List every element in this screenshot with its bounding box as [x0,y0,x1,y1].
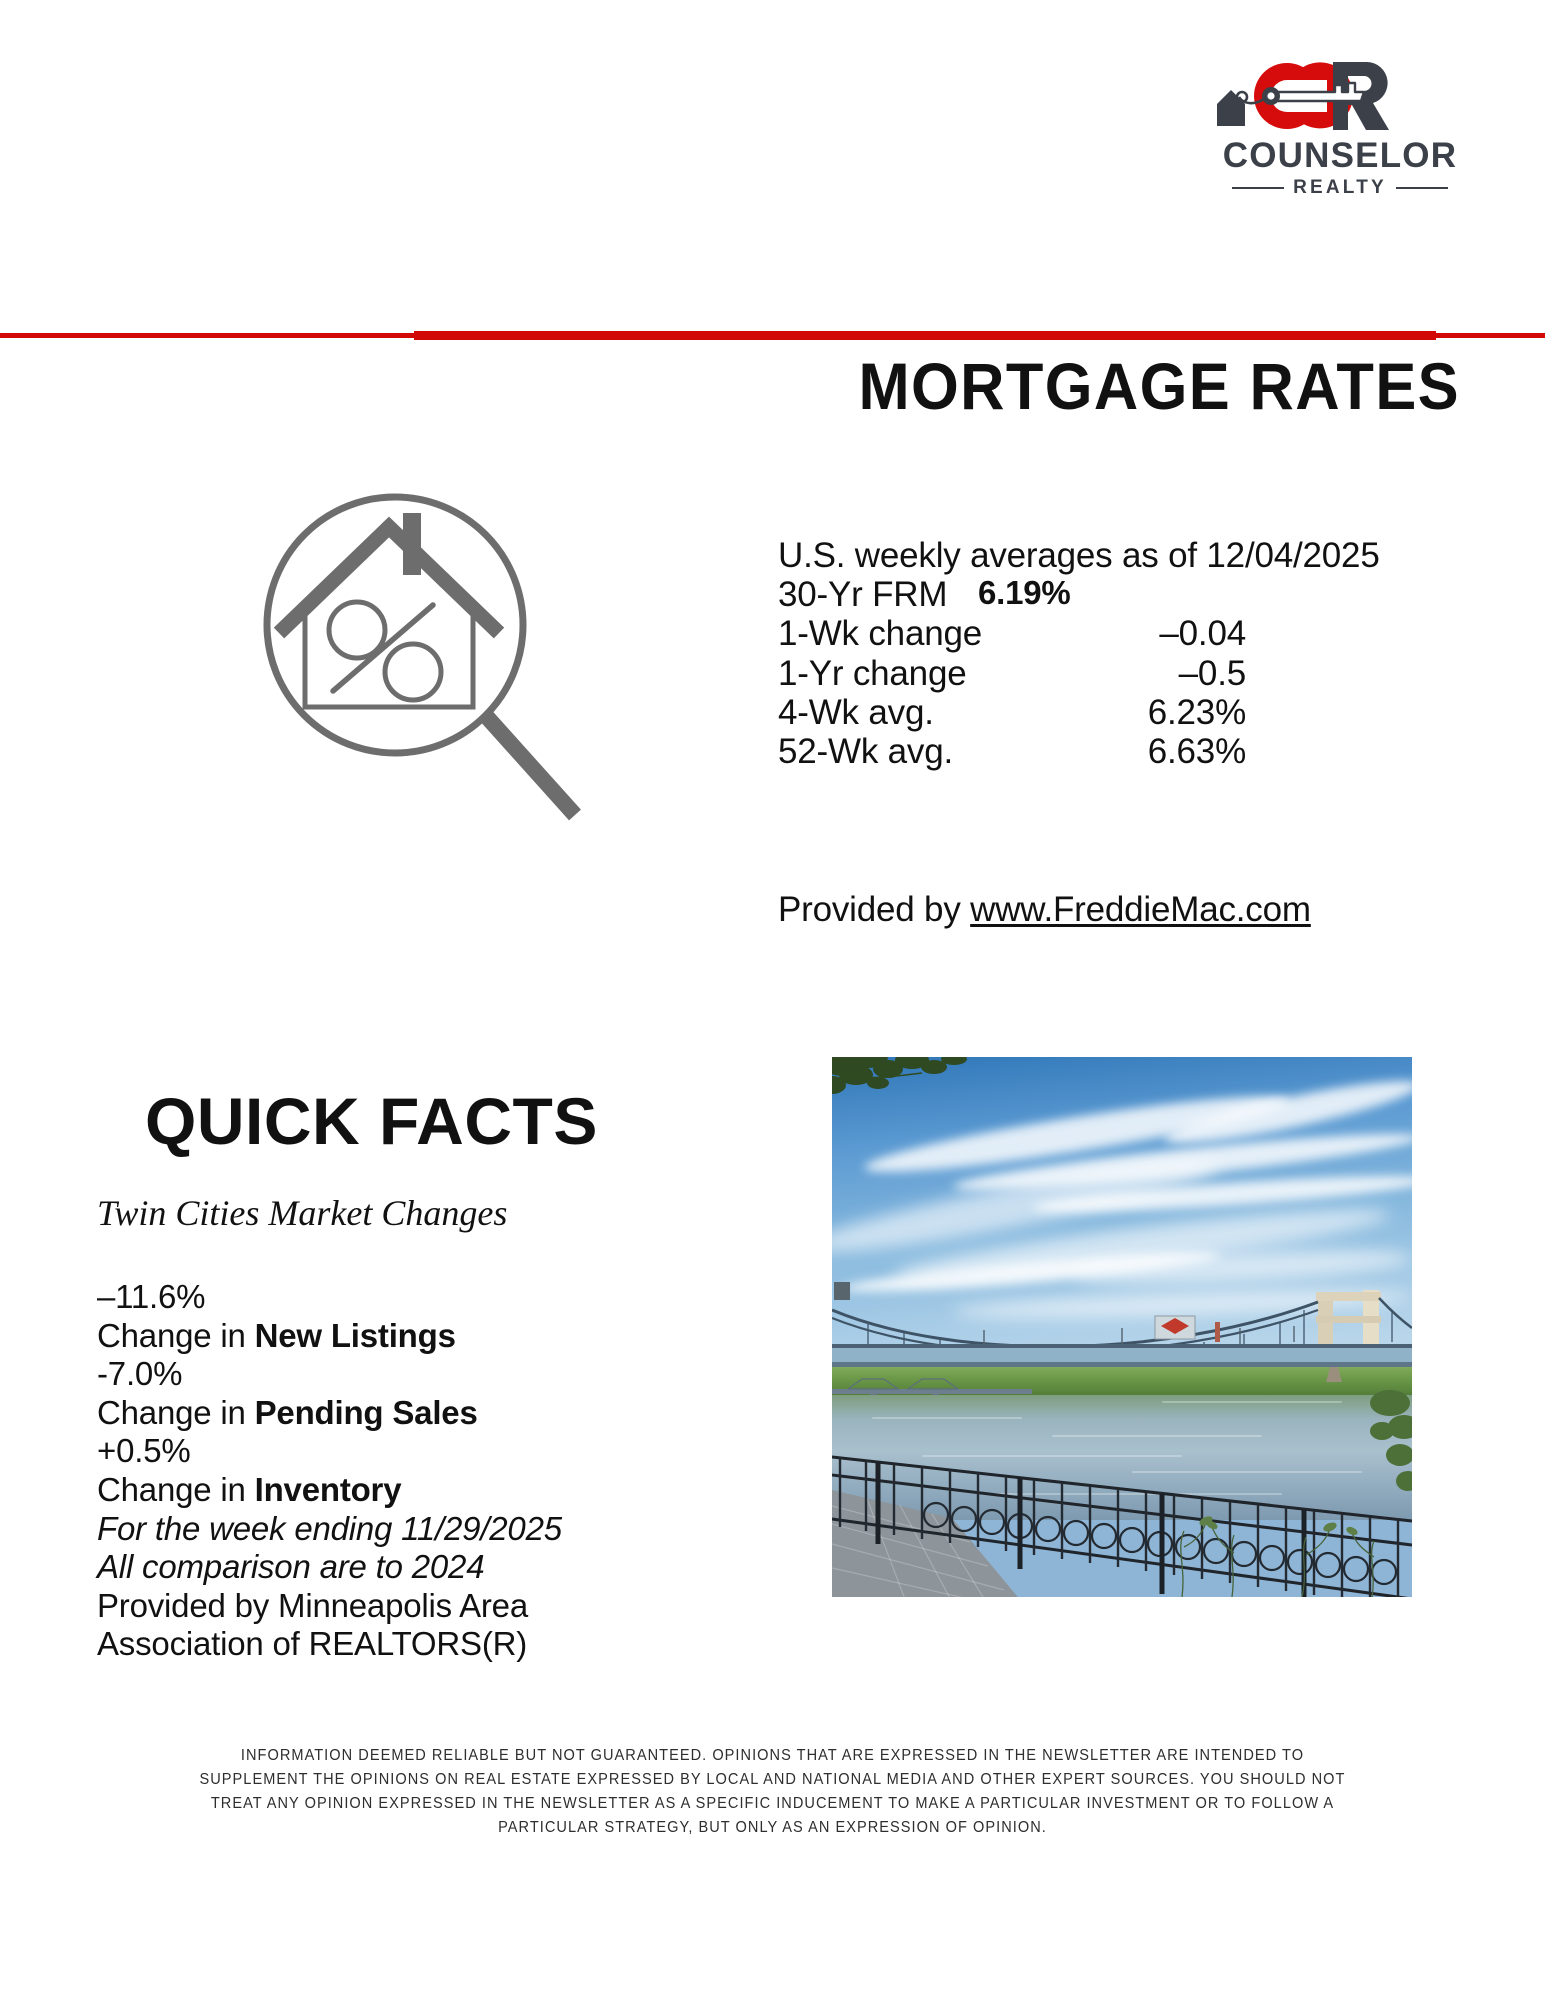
rates-heading: U.S. weekly averages as of 12/04/2025 [778,536,1398,575]
fact-label-new-listings: Change in New Listings [97,1317,737,1356]
quick-facts-title: QUICK FACTS [145,1087,598,1156]
rate-label-1yr-change: 1-Yr change [778,654,1046,693]
riverfront-bridge-photo [832,1057,1412,1597]
photo-right-shrub [1332,1387,1412,1497]
logo-company-name: COUNSELOR [1215,138,1465,173]
fact-provider-line-2: Association of REALTORS(R) [97,1625,737,1664]
photo-water-ripple [1162,1401,1342,1403]
logo-rule-right [1396,187,1448,189]
rate-value-4wk-avg: 6.23% [1046,693,1246,732]
fact-provider-line-1: Provided by Minneapolis Area [97,1587,737,1626]
rate-row-30yr-frm: 30-Yr FRM 6.19% [778,575,1398,614]
rate-label-4wk-avg: 4-Wk avg. [778,693,1046,732]
photo-suspension-bridge [832,1282,1412,1382]
fact-bold-pending-sales: Pending Sales [255,1394,478,1431]
logo-rule-left [1232,187,1284,189]
mortgage-rates-data: U.S. weekly averages as of 12/04/2025 30… [778,536,1398,771]
photo-tree-foliage [832,1057,976,1121]
fact-value-pending-sales: -7.0% [97,1355,737,1394]
counselor-cr-key-mark [1215,52,1465,140]
fact-note-week-ending: For the week ending 11/29/2025 [97,1510,737,1549]
mortgage-rates-title: MORTGAGE RATES [702,352,1460,421]
fact-bold-inventory: Inventory [255,1471,402,1508]
disclaimer-text: INFORMATION DEEMED RELIABLE BUT NOT GUAR… [187,1744,1357,1840]
fact-value-new-listings: –11.6% [97,1278,737,1317]
rate-row-52wk-avg: 52-Wk avg. 6.63% [778,732,1398,771]
rate-label-30yr-frm: 30-Yr FRM [778,575,978,614]
divider-thick-rule [414,331,1436,340]
photo-water-ripple [872,1417,1022,1419]
rate-row-1wk-change: 1-Wk change –0.04 [778,614,1398,653]
quick-facts-subtitle: Twin Cities Market Changes [97,1192,507,1234]
logo-division-row: REALTY [1215,178,1465,197]
fact-label-inventory: Change in Inventory [97,1471,737,1510]
freddiemac-link[interactable]: www.FreddieMac.com [970,890,1311,929]
rate-value-1yr-change: –0.5 [1046,654,1246,693]
fact-note-comparison: All comparison are to 2024 [97,1548,737,1587]
quick-facts-list: –11.6% Change in New Listings -7.0% Chan… [97,1278,737,1664]
fact-prefix-pending-sales: Change in [97,1394,255,1431]
rate-value-52wk-avg: 6.63% [1046,732,1246,771]
rate-label-1wk-change: 1-Wk change [778,614,1046,653]
rate-row-1yr-change: 1-Yr change –0.5 [778,654,1398,693]
fact-prefix-new-listings: Change in [97,1317,255,1354]
photo-water-ripple [1052,1435,1262,1437]
logo-division-name: REALTY [1293,178,1387,197]
fact-bold-new-listings: New Listings [255,1317,456,1354]
provided-by-prefix: Provided by [778,890,970,929]
fact-label-pending-sales: Change in Pending Sales [97,1394,737,1433]
rate-row-4wk-avg: 4-Wk avg. 6.23% [778,693,1398,732]
photo-foreground-weeds [1162,1497,1412,1597]
section-divider [0,331,1545,343]
rate-label-52wk-avg: 52-Wk avg. [778,732,1046,771]
house-percent-magnifier-icon [255,485,585,830]
fact-value-inventory: +0.5% [97,1432,737,1471]
rate-value-30yr-frm: 6.19% [978,575,1071,614]
brand-logo: COUNSELOR REALTY [1215,52,1465,197]
freddiemac-attribution: Provided by www.FreddieMac.com [778,890,1311,930]
fact-prefix-inventory: Change in [97,1471,255,1508]
rate-value-1wk-change: –0.04 [1046,614,1246,653]
